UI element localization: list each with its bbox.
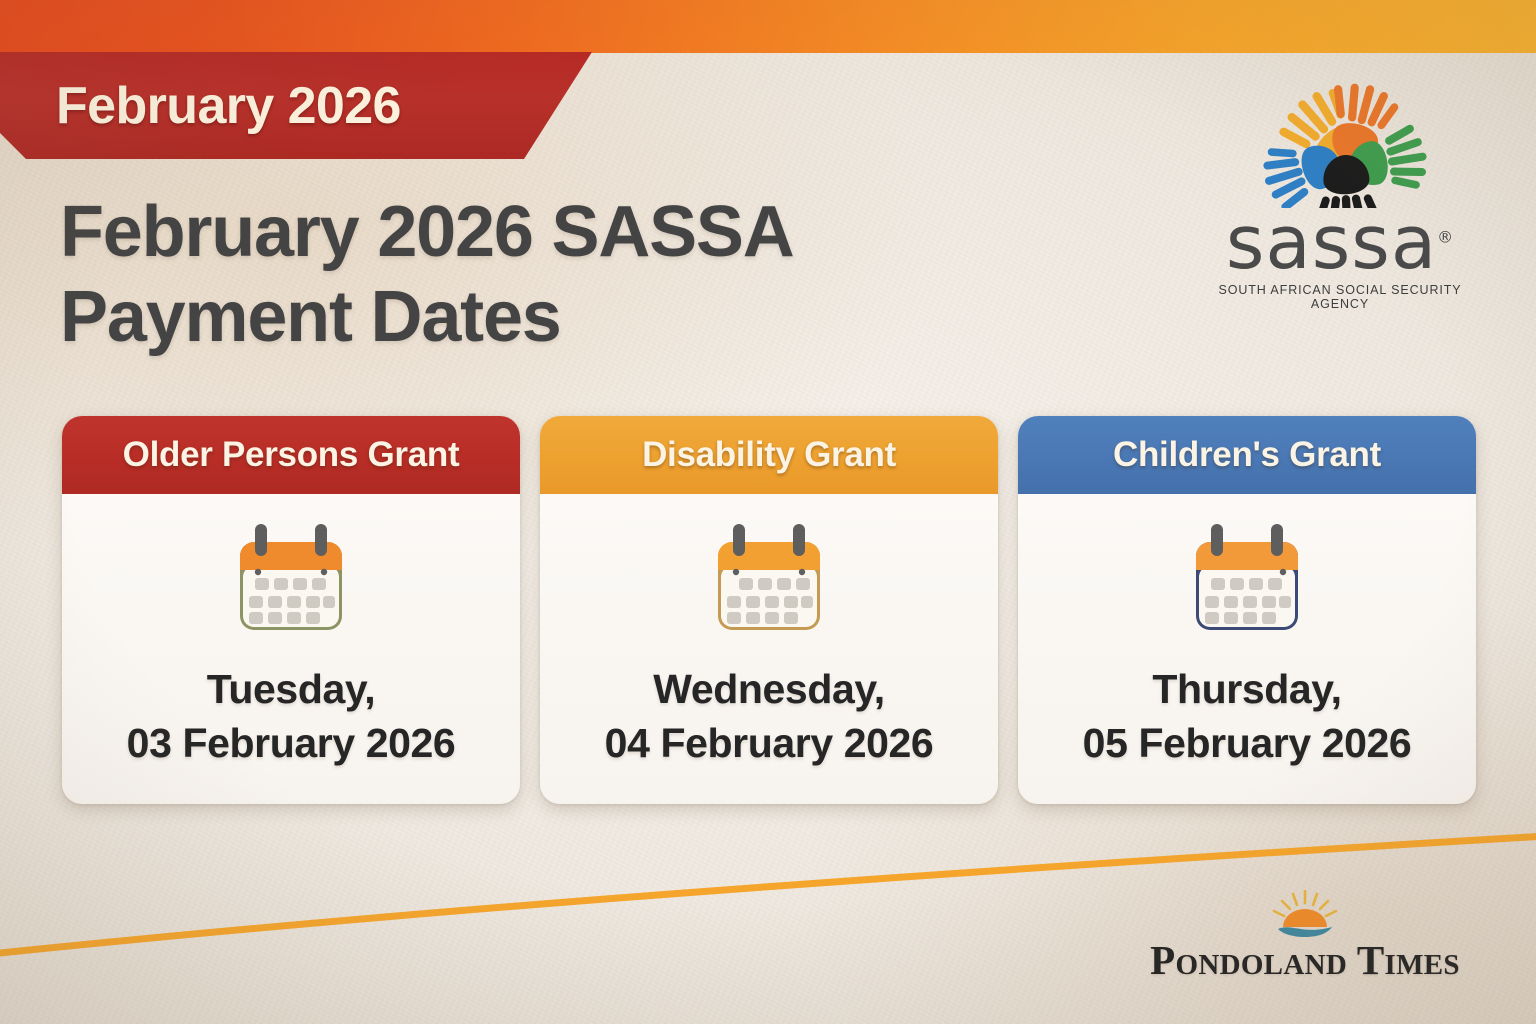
grant-card-date: Tuesday, 03 February 2026 xyxy=(80,662,502,770)
calendar-icon-wrap xyxy=(80,518,502,646)
sassa-hands-icon xyxy=(1250,78,1430,208)
calendar-icon-wrap xyxy=(558,518,980,646)
calendar-icon xyxy=(228,520,354,644)
grant-card-title: Older Persons Grant xyxy=(123,435,460,475)
grant-card-full-date: 05 February 2026 xyxy=(1036,716,1458,770)
month-label: February 2026 xyxy=(0,76,401,136)
grant-card-full-date: 03 February 2026 xyxy=(80,716,502,770)
grant-card-disability: Disability Grant xyxy=(540,416,998,804)
sunrise-icon xyxy=(1263,890,1347,938)
calendar-icon xyxy=(706,520,832,644)
infographic-poster: February 2026 February 2026 SASSA Paymen… xyxy=(0,0,1536,1024)
page-title: February 2026 SASSA Payment Dates xyxy=(60,190,960,360)
grant-card-body: Thursday, 05 February 2026 xyxy=(1018,494,1476,804)
grant-card-date: Wednesday, 04 February 2026 xyxy=(558,662,980,770)
top-gradient-bar xyxy=(0,0,1536,53)
calendar-icon-wrap xyxy=(1036,518,1458,646)
grant-card-header: Disability Grant xyxy=(540,416,998,494)
grant-card-weekday: Wednesday, xyxy=(558,662,980,716)
grant-card-date: Thursday, 05 February 2026 xyxy=(1036,662,1458,770)
grant-card-weekday: Thursday, xyxy=(1036,662,1458,716)
grant-card-title: Disability Grant xyxy=(642,435,896,475)
grant-card-body: Tuesday, 03 February 2026 xyxy=(62,494,520,804)
grant-card-older-persons: Older Persons Grant xyxy=(62,416,520,804)
publisher-logo: Pondoland Times xyxy=(1130,890,1480,984)
grant-card-full-date: 04 February 2026 xyxy=(558,716,980,770)
sassa-logo: sassa® SOUTH AFRICAN SOCIAL SECURITY AGE… xyxy=(1205,78,1475,311)
grant-card-weekday: Tuesday, xyxy=(80,662,502,716)
grant-cards: Older Persons Grant xyxy=(62,416,1476,804)
page-title-line-2: Payment Dates xyxy=(60,277,561,357)
grant-card-children: Children's Grant xyxy=(1018,416,1476,804)
month-ribbon: February 2026 xyxy=(0,52,592,159)
calendar-icon xyxy=(1184,520,1310,644)
registered-mark: ® xyxy=(1437,227,1454,246)
grant-card-header: Older Persons Grant xyxy=(62,416,520,494)
sassa-tagline: SOUTH AFRICAN SOCIAL SECURITY AGENCY xyxy=(1205,283,1475,311)
sassa-wordmark: sassa® xyxy=(1205,210,1475,277)
grant-card-header: Children's Grant xyxy=(1018,416,1476,494)
grant-card-title: Children's Grant xyxy=(1113,435,1381,475)
grant-card-body: Wednesday, 04 February 2026 xyxy=(540,494,998,804)
publisher-name: Pondoland Times xyxy=(1130,936,1480,984)
sassa-wordmark-text: sassa xyxy=(1226,200,1437,286)
page-title-line-1: February 2026 SASSA xyxy=(60,192,794,272)
